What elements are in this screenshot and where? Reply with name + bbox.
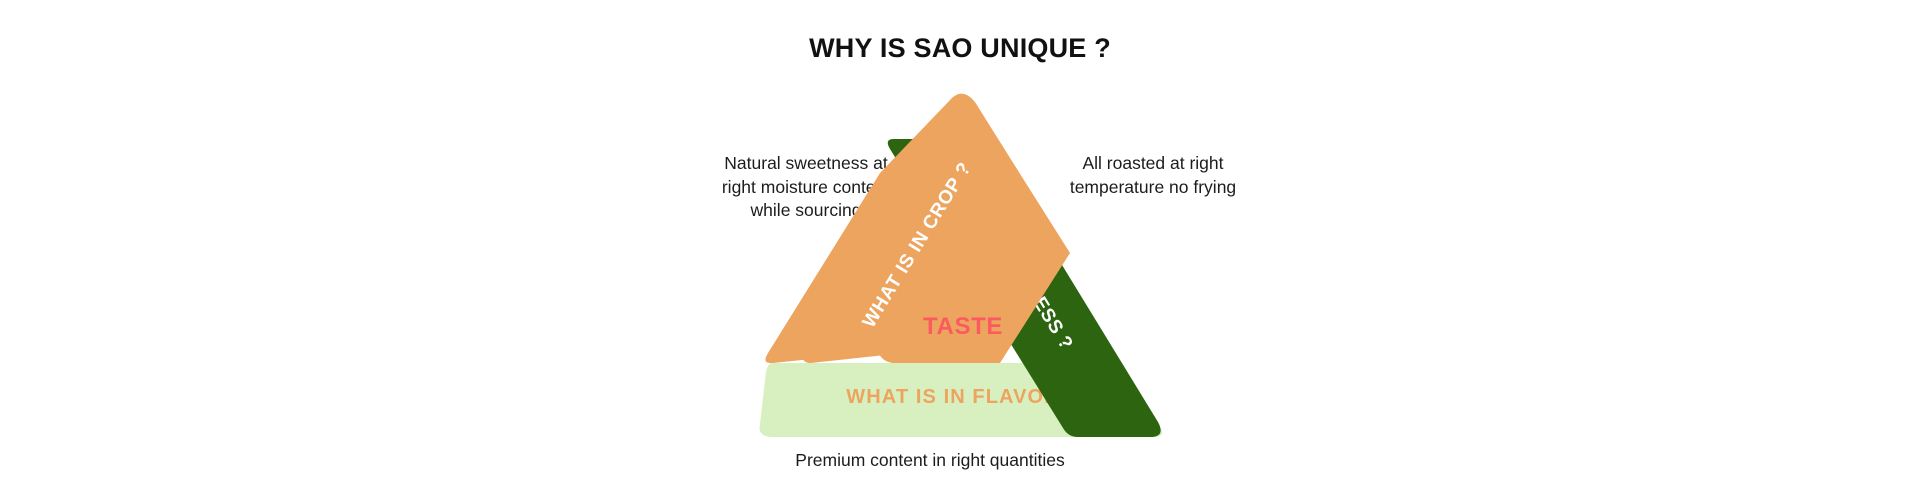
triangle-side-crop[interactable]: WHAT IS IN CROP ? <box>765 94 1070 363</box>
center-taste-label: TASTE <box>923 313 1003 340</box>
infographic-canvas: WHY IS SAO UNIQUE ? Natural sweetness at… <box>0 0 1920 500</box>
triangle-diagram: WHAT IS IN FLAVOR ? WHAT IS IN PROCESS ?… <box>0 0 1920 500</box>
